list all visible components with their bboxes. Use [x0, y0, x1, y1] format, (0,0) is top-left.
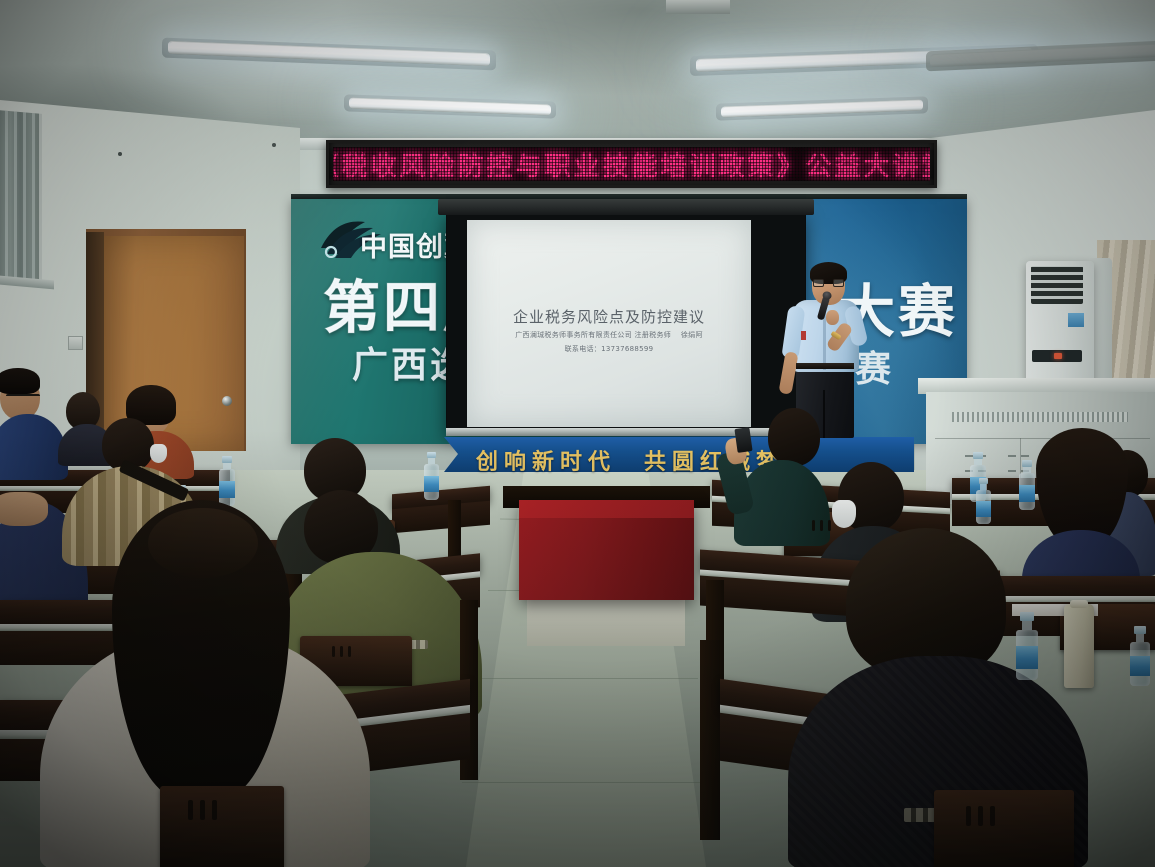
podium-under-panel — [527, 594, 685, 646]
slide-title: 企业税务风险点及防控建议 — [467, 306, 751, 327]
slide-subtitle-line-1: 广西澜珹税务师事务所有限责任公司 注册税务师 徐绢阿 — [467, 330, 751, 340]
smartphone-icon — [734, 427, 752, 453]
desk-leg-aisle-right — [700, 640, 720, 840]
led-sign-text: 《税收风险防控与职业技能培训政策》公益大讲堂 — [333, 147, 930, 181]
speaker-hand — [826, 310, 839, 325]
red-draped-table[interactable] — [519, 500, 694, 600]
meeting-room-photo: 中国创翼 第四届 广西选拔 大赛 赛 《税收风险防控与职业技能培训政策》公益大讲… — [0, 0, 1155, 867]
projected-slide: 企业税务风险点及防控建议 广西澜珹税务师事务所有限责任公司 注册税务师 徐绢阿 … — [467, 220, 751, 427]
light-switch[interactable] — [68, 336, 83, 350]
air-conditioner-grille — [1031, 266, 1083, 304]
speaker-badge — [801, 331, 806, 340]
ceiling-vent — [666, 0, 730, 14]
eyeglasses-icon — [813, 279, 844, 287]
speaker-leg-gap — [823, 390, 825, 438]
eyeglasses-icon — [6, 394, 40, 401]
water-bottle-8[interactable] — [1016, 612, 1038, 680]
speaker-belt — [796, 363, 854, 369]
banner-subline-right: 赛 — [855, 340, 894, 392]
projector-screen-case — [438, 199, 814, 215]
air-conditioner-label-sticker — [1068, 313, 1084, 327]
water-bottle-2[interactable] — [219, 456, 235, 506]
led-screen: 《税收风险防控与职业技能培训政策》公益大讲堂 — [333, 147, 930, 181]
window-with-blinds — [0, 110, 42, 286]
wall-fixing-2 — [272, 143, 276, 147]
audience-person-9 — [716, 408, 826, 538]
floor-tile-seam-3 — [474, 678, 698, 679]
chair-back-left-4 — [160, 786, 284, 867]
thermos-lid — [1070, 600, 1088, 608]
wall-fixing-1 — [118, 152, 122, 156]
door-knob-icon[interactable] — [222, 396, 232, 406]
thermos-flask[interactable] — [1064, 604, 1094, 688]
water-bottle-7[interactable] — [976, 478, 991, 524]
led-marquee-sign: 《税收风险防控与职业技能培训政策》公益大讲堂 — [326, 140, 937, 188]
floor-tile-seam-4 — [462, 782, 712, 783]
projection-screen: 企业税务风险点及防控建议 广西澜珹税务师事务所有限责任公司 注册税务师 徐绢阿 … — [446, 213, 806, 435]
cabinet-vent-grille — [952, 412, 1128, 422]
chair-back-right-3 — [934, 790, 1074, 867]
slide-subtitle-line-2: 联系电话：13737688599 — [467, 344, 751, 354]
power-indicator-icon — [1054, 353, 1062, 359]
water-bottle-9[interactable] — [1130, 626, 1150, 686]
